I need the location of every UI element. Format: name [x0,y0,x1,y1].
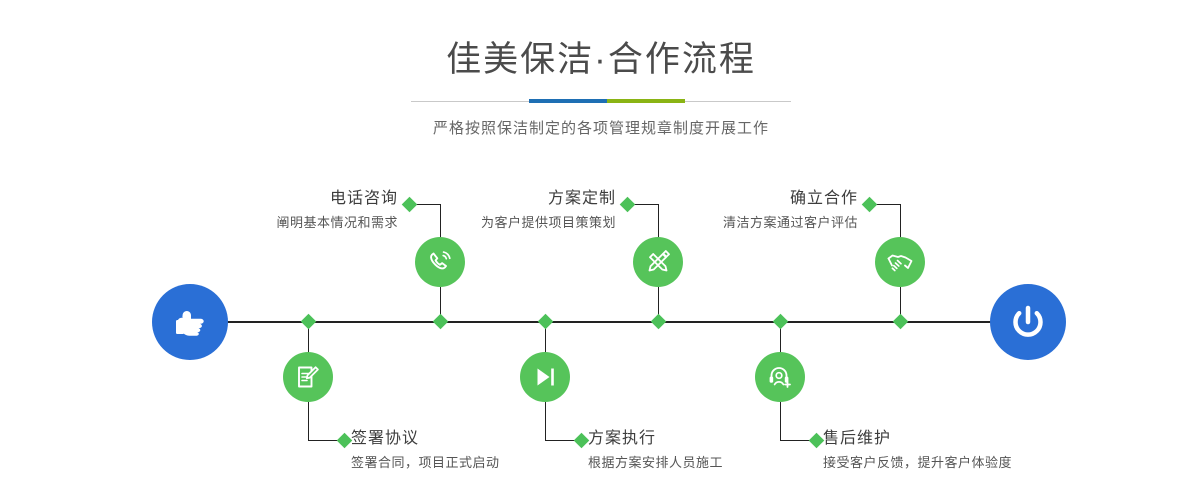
pencil-ruler-icon [643,247,673,277]
diamond-axis-3 [651,314,667,330]
step-icon-4 [520,352,570,402]
diamond-label-1 [402,197,418,213]
step-desc-2: 签署合同，项目正式启动 [351,453,571,473]
document-edit-icon [294,363,322,391]
step-desc-6: 接受客户反馈，提升客户体验度 [823,453,1083,473]
connector-vertical-2 [308,402,309,441]
step-title-4: 方案执行 [588,428,808,450]
diamond-label-6 [809,433,825,449]
step-title-3: 方案定制 [432,188,616,210]
diamond-label-3 [620,197,636,213]
step-label-5: 确立合作 清洁方案通过客户评估 [674,188,858,233]
diamond-axis-5 [893,314,909,330]
step-title-5: 确立合作 [674,188,858,210]
cooperation-flow-infographic: 佳美保洁·合作流程 严格按照保洁制定的各项管理规章制度开展工作 [0,0,1202,502]
connector-vertical-5 [900,204,901,238]
diamond-axis-6 [773,314,789,330]
connector-vertical-3 [658,204,659,238]
step-label-1: 电话咨询 阐明基本情况和需求 [214,188,398,233]
diamond-label-5 [862,197,878,213]
step-title-1: 电话咨询 [214,188,398,210]
step-label-2: 签署协议 签署合同，项目正式启动 [351,428,571,473]
diamond-axis-2 [301,314,317,330]
step-title-6: 售后维护 [823,428,1083,450]
step-desc-5: 清洁方案通过客户评估 [674,213,858,233]
diamond-axis-4 [538,314,554,330]
diamond-label-4 [574,433,590,449]
handshake-icon [885,247,915,277]
phone-call-icon [425,247,455,277]
step-title-2: 签署协议 [351,428,571,450]
flow-start-node [152,284,228,360]
customer-support-icon [766,363,794,391]
step-icon-1 [415,237,465,287]
step-label-3: 方案定制 为客户提供项目策策划 [432,188,616,233]
play-skip-icon [531,363,559,391]
flow-diagram: 电话咨询 阐明基本情况和需求 签署协议 签署合同，项目正式启动 [0,0,1202,502]
power-icon [1006,300,1050,344]
step-label-6: 售后维护 接受客户反馈，提升客户体验度 [823,428,1083,473]
step-icon-2 [283,352,333,402]
step-label-4: 方案执行 根据方案安排人员施工 [588,428,808,473]
pointing-hand-icon [169,301,211,343]
flow-end-node [990,284,1066,360]
step-icon-3 [633,237,683,287]
diamond-label-2 [337,433,353,449]
diamond-axis-1 [433,314,449,330]
step-desc-1: 阐明基本情况和需求 [214,213,398,233]
step-icon-6 [755,352,805,402]
step-desc-4: 根据方案安排人员施工 [588,453,808,473]
step-icon-5 [875,237,925,287]
step-desc-3: 为客户提供项目策策划 [432,213,616,233]
